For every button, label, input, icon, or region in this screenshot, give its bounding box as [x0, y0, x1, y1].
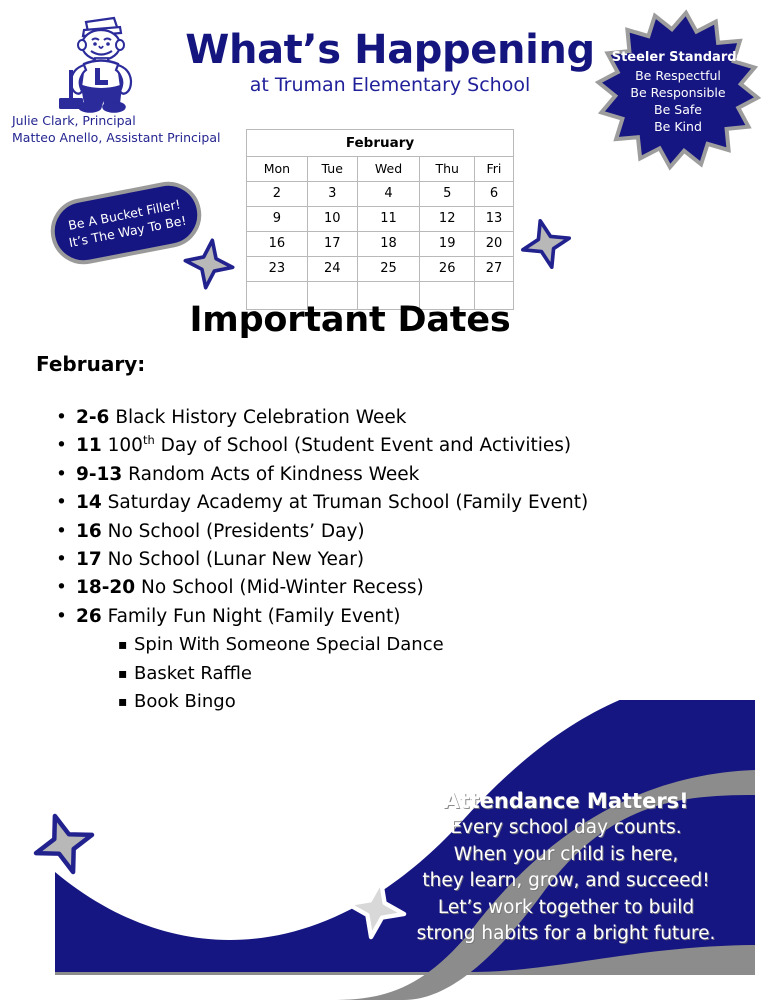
important-date-prefix: 100 [102, 435, 143, 456]
calendar-day-cell: 6 [474, 182, 513, 207]
masthead: What’s Happening at Truman Elementary Sc… [180, 28, 600, 98]
attendance-body: Every school day counts. When your child… [396, 815, 736, 948]
important-date-item: 14 Saturday Academy at Truman School (Fa… [72, 489, 732, 517]
calendar-day-cell: 24 [307, 257, 357, 282]
important-date-text: Saturday Academy at Truman School (Famil… [102, 492, 588, 513]
calendar-day-cell: 5 [420, 182, 474, 207]
calendar-day-cell: 12 [420, 207, 474, 232]
steeler-standards-title: Steeler Standards [612, 49, 745, 66]
important-date-text: Family Fun Night (Family Event) [102, 606, 401, 627]
calendar-day-cell: 13 [474, 207, 513, 232]
important-date-subitem: Basket Raffle [134, 660, 732, 689]
page-title: What’s Happening [180, 28, 600, 72]
calendar-day-cell: 16 [247, 232, 308, 257]
important-date-number: 18-20 [76, 577, 135, 598]
calendar-dow: Thu [420, 157, 474, 182]
important-date-number: 14 [76, 492, 102, 513]
principal-name: Julie Clark, Principal [12, 113, 220, 130]
steeler-standard-item: Be Responsible [630, 84, 725, 101]
calendar-day-cell: 25 [357, 257, 420, 282]
calendar-month-label: February [247, 130, 514, 157]
important-date-text: No School (Mid-Winter Recess) [135, 577, 424, 598]
calendar-dow: Mon [247, 157, 308, 182]
calendar-week-row: 2 3 4 5 6 [247, 182, 514, 207]
calendar-week-row: 9 10 11 12 13 [247, 207, 514, 232]
steeler-standards-badge: Steeler Standards Be Respectful Be Respo… [592, 8, 764, 173]
important-date-number: 17 [76, 549, 102, 570]
important-date-item: 9-13 Random Acts of Kindness Week [72, 461, 732, 489]
important-date-text: Day of School (Student Event and Activit… [155, 435, 571, 456]
important-date-text: Random Acts of Kindness Week [122, 464, 419, 485]
calendar-month-row: February [247, 130, 514, 157]
attendance-line: Let’s work together to build [396, 895, 736, 922]
important-date-number: 2-6 [76, 407, 109, 428]
attendance-line: When your child is here, [396, 842, 736, 869]
sparkle-star-icon [32, 812, 96, 876]
important-date-item: 11 100th Day of School (Student Event an… [72, 432, 732, 460]
important-date-text: No School (Lunar New Year) [102, 549, 364, 570]
calendar-day-cell: 17 [307, 232, 357, 257]
important-date-item: 2-6 Black History Celebration Week [72, 404, 732, 432]
important-date-subitem: Spin With Someone Special Dance [134, 631, 732, 660]
important-dates-list: 2-6 Black History Celebration Week11 100… [46, 404, 732, 717]
principal-names: Julie Clark, Principal Matteo Anello, As… [12, 113, 220, 146]
important-dates-heading: Important Dates [0, 300, 700, 340]
calendar-dow-row: Mon Tue Wed Thu Fri [247, 157, 514, 182]
steeler-standard-item: Be Kind [654, 118, 702, 135]
calendar-day-cell: 20 [474, 232, 513, 257]
sparkle-star-icon [520, 218, 572, 270]
february-calendar: February Mon Tue Wed Thu Fri 2 3 4 5 6 9… [246, 129, 514, 310]
calendar-day-cell: 18 [357, 232, 420, 257]
important-date-number: 16 [76, 521, 102, 542]
attendance-title: Attendance Matters! [396, 788, 736, 814]
calendar-dow: Wed [357, 157, 420, 182]
school-mascot-icon [44, 8, 156, 116]
calendar-dow: Fri [474, 157, 513, 182]
newsletter-page: Julie Clark, Principal Matteo Anello, As… [0, 0, 773, 1000]
steeler-standard-item: Be Respectful [635, 67, 721, 84]
calendar-day-cell: 19 [420, 232, 474, 257]
page-subtitle: at Truman Elementary School [180, 73, 600, 98]
steeler-standard-item: Be Safe [654, 101, 702, 118]
calendar-day-cell: 11 [357, 207, 420, 232]
calendar-day-cell: 23 [247, 257, 308, 282]
attendance-message: Attendance Matters! Every school day cou… [396, 788, 736, 948]
important-date-number: 11 [76, 435, 102, 456]
important-date-item: 18-20 No School (Mid-Winter Recess) [72, 574, 732, 602]
calendar-day-cell: 26 [420, 257, 474, 282]
sparkle-star-icon [183, 238, 235, 290]
important-date-item: 16 No School (Presidents’ Day) [72, 518, 732, 546]
calendar-day-cell: 10 [307, 207, 357, 232]
month-subheading: February: [36, 352, 145, 376]
important-date-item: 17 No School (Lunar New Year) [72, 546, 732, 574]
assistant-principal-name: Matteo Anello, Assistant Principal [12, 130, 220, 147]
calendar-day-cell: 2 [247, 182, 308, 207]
ordinal-suffix: th [143, 433, 155, 447]
important-date-text: Black History Celebration Week [109, 407, 406, 428]
calendar-day-cell: 4 [357, 182, 420, 207]
attendance-line: Every school day counts. [396, 815, 736, 842]
calendar-week-row: 23 24 25 26 27 [247, 257, 514, 282]
calendar-dow: Tue [307, 157, 357, 182]
attendance-line: strong habits for a bright future. [396, 921, 736, 948]
attendance-line: they learn, grow, and succeed! [396, 868, 736, 895]
calendar-week-row: 16 17 18 19 20 [247, 232, 514, 257]
calendar-day-cell: 3 [307, 182, 357, 207]
important-date-text: No School (Presidents’ Day) [102, 521, 365, 542]
calendar-day-cell: 27 [474, 257, 513, 282]
important-date-number: 9-13 [76, 464, 122, 485]
calendar-day-cell: 9 [247, 207, 308, 232]
important-date-number: 26 [76, 606, 102, 627]
